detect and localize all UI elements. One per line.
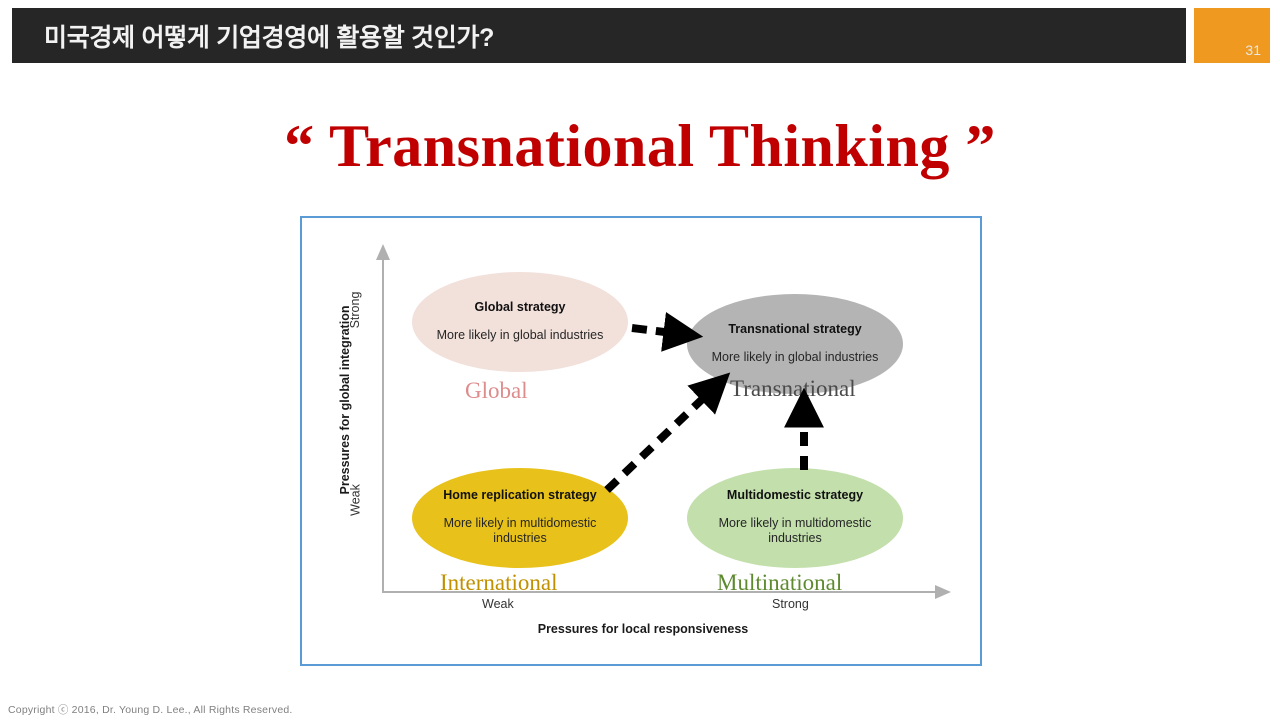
copyright-notice: Copyright ⓒ 2016, Dr. Young D. Lee., All… bbox=[8, 702, 293, 717]
arrow-home-replication-to-transnational bbox=[607, 388, 714, 490]
ellipse-multidomestic-strategy-title: Multidomestic strategy bbox=[727, 489, 863, 503]
ellipse-multidomestic-strategy-subtitle: More likely in multidomestic industries bbox=[687, 516, 903, 547]
quadrant-label-transnational: Transnational bbox=[730, 376, 856, 402]
ellipse-global-strategy: Global strategy More likely in global in… bbox=[412, 272, 628, 372]
page-number-label: 31 bbox=[1245, 42, 1261, 58]
x-axis-title: Pressures for local responsiveness bbox=[302, 622, 984, 636]
ellipse-transnational-strategy-title: Transnational strategy bbox=[728, 323, 861, 337]
page-title: 미국경제 어떻게 기업경영에 활용할 것인가? bbox=[12, 18, 494, 54]
slide-heading: “ Transnational Thinking ” bbox=[0, 112, 1280, 181]
ellipse-multidomestic-strategy: Multidomestic strategy More likely in mu… bbox=[687, 468, 903, 568]
quadrant-label-international: International bbox=[440, 570, 558, 596]
y-axis-tick-strong: Strong bbox=[348, 280, 362, 340]
x-axis-arrowhead-icon bbox=[935, 585, 951, 599]
arrow-global-to-transnational bbox=[632, 328, 681, 334]
ellipse-home-replication-strategy-title: Home replication strategy bbox=[443, 489, 597, 503]
y-axis-line bbox=[382, 258, 384, 593]
strategy-matrix-diagram: Pressures for global integration Strong … bbox=[300, 216, 982, 666]
ellipse-home-replication-strategy-subtitle: More likely in multidomestic industries bbox=[412, 516, 628, 547]
header-bar: 미국경제 어떻게 기업경영에 활용할 것인가? bbox=[12, 8, 1186, 63]
ellipse-transnational-strategy-subtitle: More likely in global industries bbox=[690, 350, 901, 366]
x-axis-tick-weak: Weak bbox=[482, 597, 514, 611]
y-axis-tick-weak: Weak bbox=[349, 473, 363, 528]
arrow-overlay bbox=[302, 218, 984, 668]
x-axis-tick-strong: Strong bbox=[772, 597, 809, 611]
quadrant-label-multinational: Multinational bbox=[717, 570, 842, 596]
ellipse-global-strategy-title: Global strategy bbox=[475, 301, 566, 315]
ellipse-global-strategy-subtitle: More likely in global industries bbox=[415, 328, 626, 344]
ellipse-home-replication-strategy: Home replication strategy More likely in… bbox=[412, 468, 628, 568]
y-axis-arrowhead-icon bbox=[376, 244, 390, 260]
page-number-badge: 31 bbox=[1194, 8, 1270, 63]
quadrant-label-global: Global bbox=[465, 378, 528, 404]
